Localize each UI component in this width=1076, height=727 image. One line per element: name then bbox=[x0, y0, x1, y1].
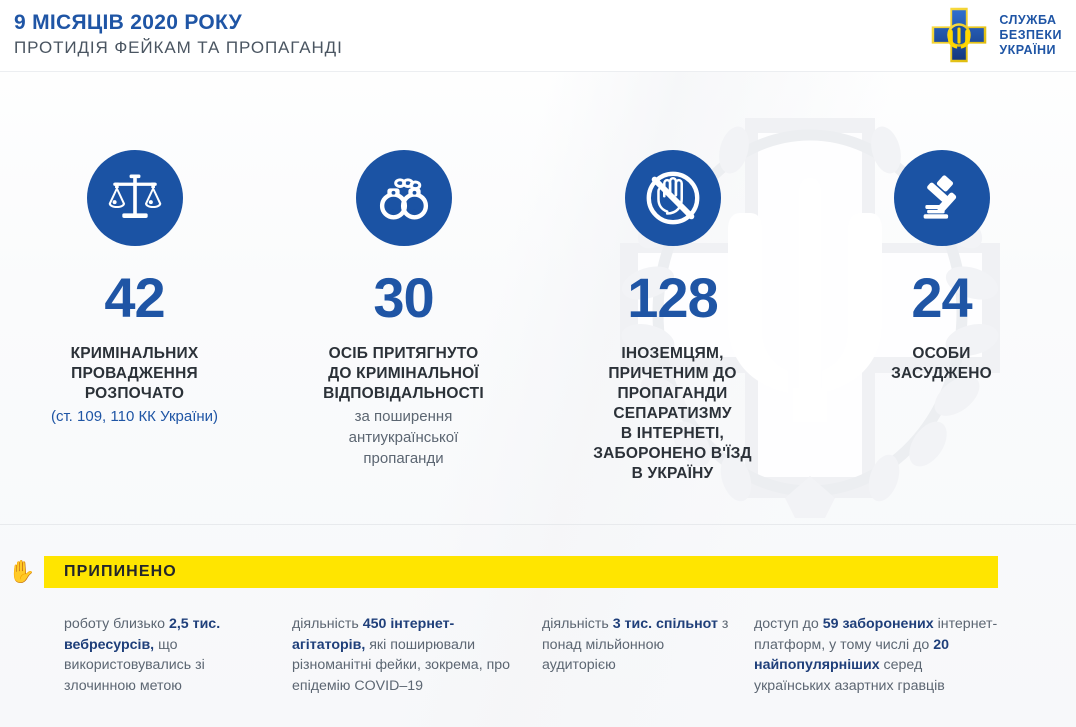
page-title: 9 МІСЯЦІВ 2020 РОКУ bbox=[14, 10, 1076, 36]
suspended-items-row: роботу близько 2,5 тис. вебресурсів, що … bbox=[0, 614, 1076, 696]
logo-line-3: УКРАЇНИ bbox=[999, 43, 1062, 58]
scales-of-justice-icon bbox=[106, 169, 164, 227]
stat-icon-circle bbox=[356, 150, 452, 246]
stat-main-label: ІНОЗЕМЦЯМ, ПРИЧЕТНИМ ДО ПРОПАГАНДИ СЕПАР… bbox=[593, 344, 752, 484]
stat-card-criminal-liability: 30 ОСІБ ПРИТЯГНУТО ДО КРИМІНАЛЬНОЇ ВІДПО… bbox=[269, 150, 538, 524]
stat-sub-label: (ст. 109, 110 КК України) bbox=[51, 406, 218, 427]
raised-hand-icon: ✋ bbox=[0, 561, 44, 583]
page-subtitle: ПРОТИДІЯ ФЕЙКАМ ТА ПРОПАГАНДІ bbox=[14, 36, 1076, 60]
stats-row: 42 КРИМІНАЛЬНИХ ПРОВАДЖЕННЯ РОЗПОЧАТО (с… bbox=[0, 72, 1076, 524]
suspended-item-platforms: доступ до 59 заборонених інтернет-платфо… bbox=[754, 614, 1020, 696]
stat-icon-circle bbox=[894, 150, 990, 246]
banner-label: ПРИПИНЕНО bbox=[64, 563, 177, 581]
suspended-banner: ✋ ПРИПИНЕНО bbox=[0, 556, 1076, 588]
suspended-item-webresources: роботу близько 2,5 тис. вебресурсів, що … bbox=[64, 614, 292, 696]
stat-card-criminal-proceedings: 42 КРИМІНАЛЬНИХ ПРОВАДЖЕННЯ РОЗПОЧАТО (с… bbox=[0, 150, 269, 524]
stat-icon-circle bbox=[625, 150, 721, 246]
stat-main-label: ОСОБИ ЗАСУДЖЕНО bbox=[891, 344, 992, 384]
stat-main-label: ОСІБ ПРИТЯГНУТО ДО КРИМІНАЛЬНОЇ ВІДПОВІД… bbox=[323, 344, 484, 404]
handcuffs-icon bbox=[376, 170, 432, 226]
infographic-page: 9 МІСЯЦІВ 2020 РОКУ ПРОТИДІЯ ФЕЙКАМ ТА П… bbox=[0, 0, 1076, 727]
banner-bar: ПРИПИНЕНО bbox=[44, 556, 998, 588]
stat-sub-label: за поширення антиукраїнської пропаганди bbox=[349, 406, 459, 469]
stat-icon-circle bbox=[87, 150, 183, 246]
item-pre-text: діяльність bbox=[292, 616, 363, 632]
stat-number: 42 bbox=[104, 268, 164, 328]
stat-number: 128 bbox=[627, 268, 717, 328]
sbu-emblem-icon bbox=[928, 4, 990, 66]
item-pre-text: роботу близько bbox=[64, 616, 169, 632]
logo-line-2: БЕЗПЕКИ bbox=[999, 28, 1062, 43]
no-entry-hand-icon bbox=[642, 167, 704, 229]
item-strong-text: 59 заборонених bbox=[823, 616, 934, 632]
page-header: 9 МІСЯЦІВ 2020 РОКУ ПРОТИДІЯ ФЕЙКАМ ТА П… bbox=[0, 0, 1076, 72]
sbu-logo-text: СЛУЖБА БЕЗПЕКИ УКРАЇНИ bbox=[999, 13, 1062, 58]
stat-main-label: КРИМІНАЛЬНИХ ПРОВАДЖЕННЯ РОЗПОЧАТО bbox=[71, 344, 199, 404]
section-divider bbox=[0, 524, 1076, 525]
logo-line-1: СЛУЖБА bbox=[999, 13, 1062, 28]
stat-number: 24 bbox=[911, 268, 971, 328]
stat-number: 30 bbox=[373, 268, 433, 328]
gavel-icon bbox=[914, 170, 970, 226]
item-pre-text: діяльність bbox=[542, 616, 613, 632]
stat-card-entry-ban: 128 ІНОЗЕМЦЯМ, ПРИЧЕТНИМ ДО ПРОПАГАНДИ С… bbox=[538, 150, 807, 524]
suspended-item-communities: діяльність 3 тис. спільнот з понад мільй… bbox=[542, 614, 754, 696]
sbu-logo: СЛУЖБА БЕЗПЕКИ УКРАЇНИ bbox=[928, 4, 1062, 66]
item-pre-text: доступ до bbox=[754, 616, 823, 632]
stat-card-convicted: 24 ОСОБИ ЗАСУДЖЕНО bbox=[807, 150, 1076, 524]
item-strong-text: 3 тис. спільнот bbox=[613, 616, 718, 632]
suspended-item-agitators: діяльність 450 інтернет-агітаторів, які … bbox=[292, 614, 542, 696]
